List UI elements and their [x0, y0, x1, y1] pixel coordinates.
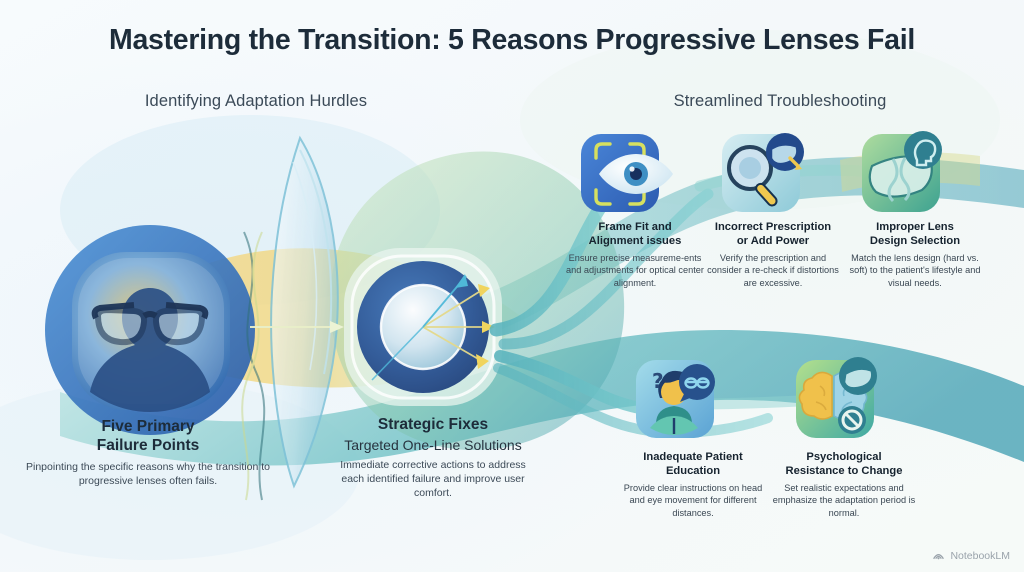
- left-summary-title: Five Primary Failure Points: [22, 418, 274, 456]
- card-title: Inadequate Patient Education: [618, 450, 768, 478]
- notebooklm-logo-icon: [932, 549, 945, 562]
- magnifier-prescription-icon: [722, 133, 804, 212]
- patient-education-icon: ?: [636, 360, 715, 438]
- section-label-right: Streamlined Troubleshooting: [620, 92, 940, 111]
- brain-resistance-icon: [796, 357, 877, 438]
- card-body: Verify the prescription and consider a r…: [702, 252, 844, 289]
- card-incorrect-prescription: Incorrect Prescription or Add Power Veri…: [702, 220, 844, 289]
- card-patient-education: Inadequate Patient Education Provide cle…: [618, 450, 768, 519]
- middle-summary-subtitle: Targeted One-Line Solutions: [330, 437, 536, 455]
- card-lens-design: Improper Lens Design Selection Match the…: [842, 220, 988, 289]
- card-frame-fit: Frame Fit and Alignment issues Ensure pr…: [566, 220, 704, 289]
- card-body: Set realistic expectations and emphasize…: [768, 482, 920, 519]
- section-label-left: Identifying Adaptation Hurdles: [96, 92, 416, 111]
- card-body: Provide clear instructions on head and e…: [618, 482, 768, 519]
- card-title: Improper Lens Design Selection: [842, 220, 988, 248]
- left-summary-body: Pinpointing the specific reasons why the…: [22, 461, 274, 489]
- middle-summary-title: Strategic Fixes: [330, 416, 536, 435]
- card-title: Psychological Resistance to Change: [768, 450, 920, 478]
- card-body: Match the lens design (hard vs. soft) to…: [842, 252, 988, 289]
- middle-summary-block: Strategic Fixes Targeted One-Line Soluti…: [330, 416, 536, 501]
- lens-design-head-icon: [862, 131, 942, 212]
- watermark: NotebookLM: [932, 549, 1010, 562]
- left-summary-block: Five Primary Failure Points Pinpointing …: [22, 418, 274, 489]
- card-body: Ensure precise measureme-ents and adjust…: [566, 252, 704, 289]
- card-psychological-resistance: Psychological Resistance to Change Set r…: [768, 450, 920, 519]
- page-title: Mastering the Transition: 5 Reasons Prog…: [0, 24, 1024, 57]
- card-title: Incorrect Prescription or Add Power: [702, 220, 844, 248]
- infographic-canvas: ? Mastering the Transition: 5 Rea: [0, 0, 1024, 572]
- card-title: Frame Fit and Alignment issues: [566, 220, 704, 248]
- eye-focus-icon: [581, 134, 673, 212]
- middle-summary-body: Immediate corrective actions to address …: [330, 459, 536, 501]
- watermark-label: NotebookLM: [950, 550, 1010, 562]
- svg-text:?: ?: [652, 369, 664, 393]
